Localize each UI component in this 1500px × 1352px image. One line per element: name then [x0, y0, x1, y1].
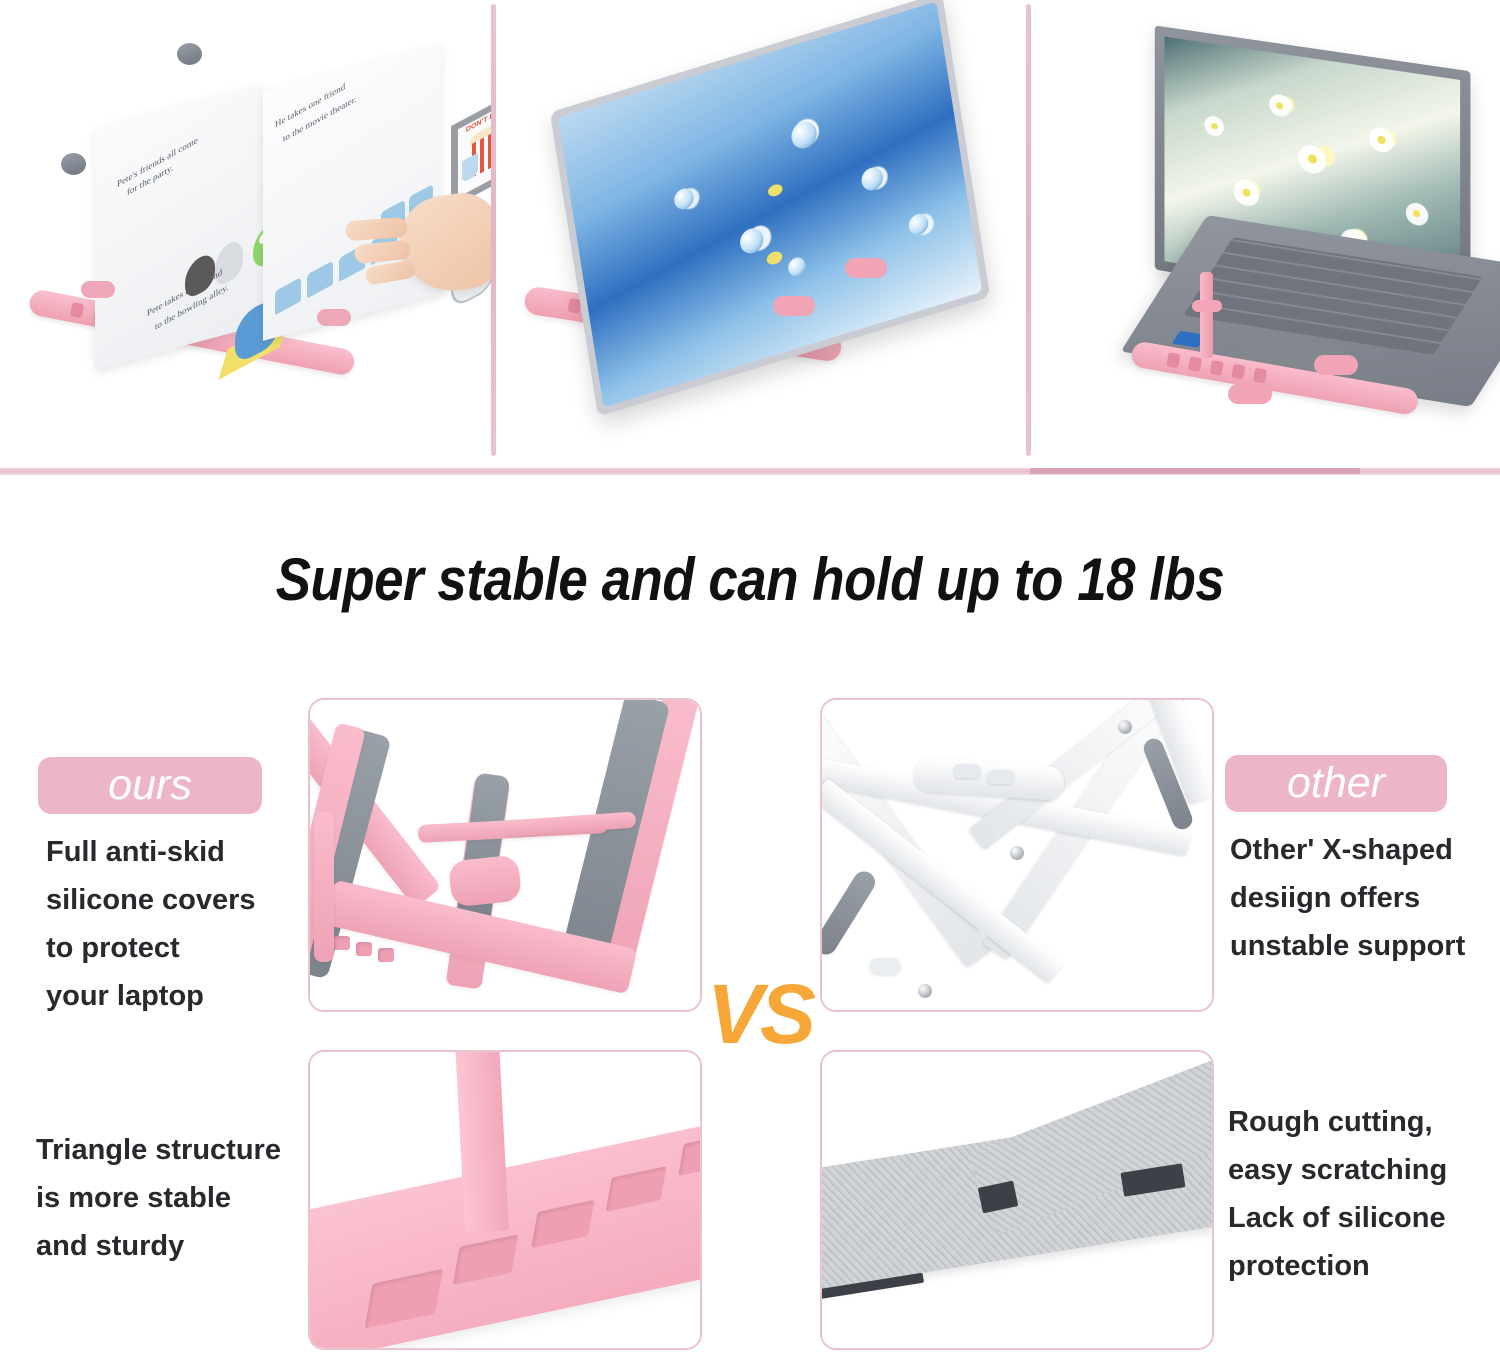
screw-bottom-icon [918, 984, 932, 998]
book-page-left: Pete's friends all come for the party. P… [95, 82, 263, 369]
gallery-divider-vertical-1 [491, 4, 496, 456]
comparison-image-ours-top [308, 698, 702, 1012]
book-knob-left [61, 153, 86, 175]
book-stand-scene: Pete's friends all come for the party. P… [0, 0, 493, 468]
page-title: Super stable and can hold up to 18 lbs [90, 545, 1410, 614]
stand-cross-arm [1192, 300, 1222, 312]
other-top-description: Other' X-shaped desiign offers unstable … [1230, 826, 1490, 970]
book-page-right: He takes one friend to the movie theater… [263, 43, 441, 341]
screw-center-icon [1010, 846, 1024, 860]
badge-other: other [1225, 755, 1447, 812]
open-book: Pete's friends all come for the party. P… [95, 55, 435, 355]
badge-ours: ours [38, 757, 262, 814]
ours-stand-closeup-art [310, 700, 700, 1010]
section-divider-accent-segment [1030, 468, 1360, 474]
stand-clip-lower-right [845, 258, 887, 278]
screw-top-icon [1118, 720, 1132, 734]
gallery-panel-laptop-stand [1032, 0, 1500, 468]
laptop-keyboard [1183, 237, 1483, 355]
book-text-left-1: Pete's friends all come [117, 134, 198, 189]
stand-clip-lower-center [773, 296, 815, 316]
book-clip-left [81, 281, 115, 298]
stand-clip-front-left [1228, 384, 1272, 404]
tablet-stand-scene [497, 0, 1028, 468]
comparison-image-ours-bottom [308, 1050, 702, 1350]
tablet-device [550, 0, 990, 417]
vs-label: VS [690, 972, 830, 1056]
top-gallery: Pete's friends all come for the party. P… [0, 0, 1500, 470]
comparison-image-other-top [820, 698, 1214, 1012]
other-bottom-description: Rough cutting, easy scratching Lack of s… [1228, 1098, 1498, 1290]
ours-bottom-description: Triangle structure is more stable and st… [36, 1126, 316, 1270]
stand-support-strut [1200, 272, 1213, 358]
ours-base-closeup-art [310, 1052, 700, 1348]
laptop-stand-scene [1032, 0, 1500, 468]
other-rough-edge-art [822, 1052, 1212, 1348]
book-art-dog [215, 236, 243, 289]
gallery-panel-tablet-stand [497, 0, 1028, 468]
book-art-movie-screen: DON'T FORGET [451, 71, 493, 208]
other-x-stand-closeup-art [822, 700, 1212, 1010]
infographic-root: Pete's friends all come for the party. P… [0, 0, 1500, 1352]
book-clip-bottom [317, 309, 351, 326]
stand-vertical-post [455, 1050, 509, 1233]
book-art-drink-cup [462, 153, 478, 184]
gallery-divider-vertical-2 [1026, 4, 1031, 456]
stand-clip-front-right [1314, 355, 1358, 375]
comparison-image-other-bottom [820, 1050, 1214, 1350]
tablet-screen [558, 1, 983, 407]
gallery-panel-book-stand: Pete's friends all come for the party. P… [0, 0, 493, 468]
ours-top-description: Full anti-skid silicone covers to protec… [46, 828, 306, 1020]
book-knob-top [177, 43, 202, 65]
